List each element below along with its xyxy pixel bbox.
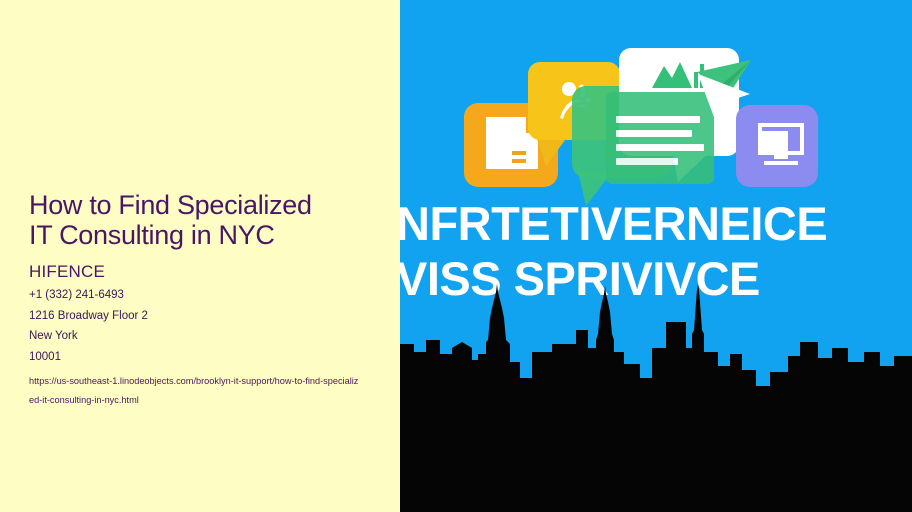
document-icon [486,117,526,169]
contact-phone: +1 (332) 241-6493 [29,285,389,306]
left-info-panel: How to Find Specialized IT Consulting in… [0,0,400,512]
contact-street: 1216 Broadway Floor 2 [29,306,389,327]
city-skyline-silhouette [400,282,912,512]
contact-zip: 10001 [29,347,389,368]
graphic-cluster [400,0,912,200]
monitor-icon [758,123,806,167]
page-root: How to Find Specialized IT Consulting in… [0,0,912,512]
right-graphic-panel: NFRTETIVERNEICE VISS SPRIVIVCE [400,0,912,512]
contact-details: +1 (332) 241-6493 1216 Broadway Floor 2 … [29,285,389,367]
page-title: How to Find Specialized IT Consulting in… [29,190,389,250]
yellow-bubble-tail [536,136,568,166]
purple-monitor-card [736,105,818,187]
contact-city: New York [29,326,389,347]
article-text-block: How to Find Specialized IT Consulting in… [29,190,389,410]
source-url-link[interactable]: https://us-southeast-1.linodeobjects.com… [29,372,359,410]
brand-name: HIFENCE [29,262,389,282]
